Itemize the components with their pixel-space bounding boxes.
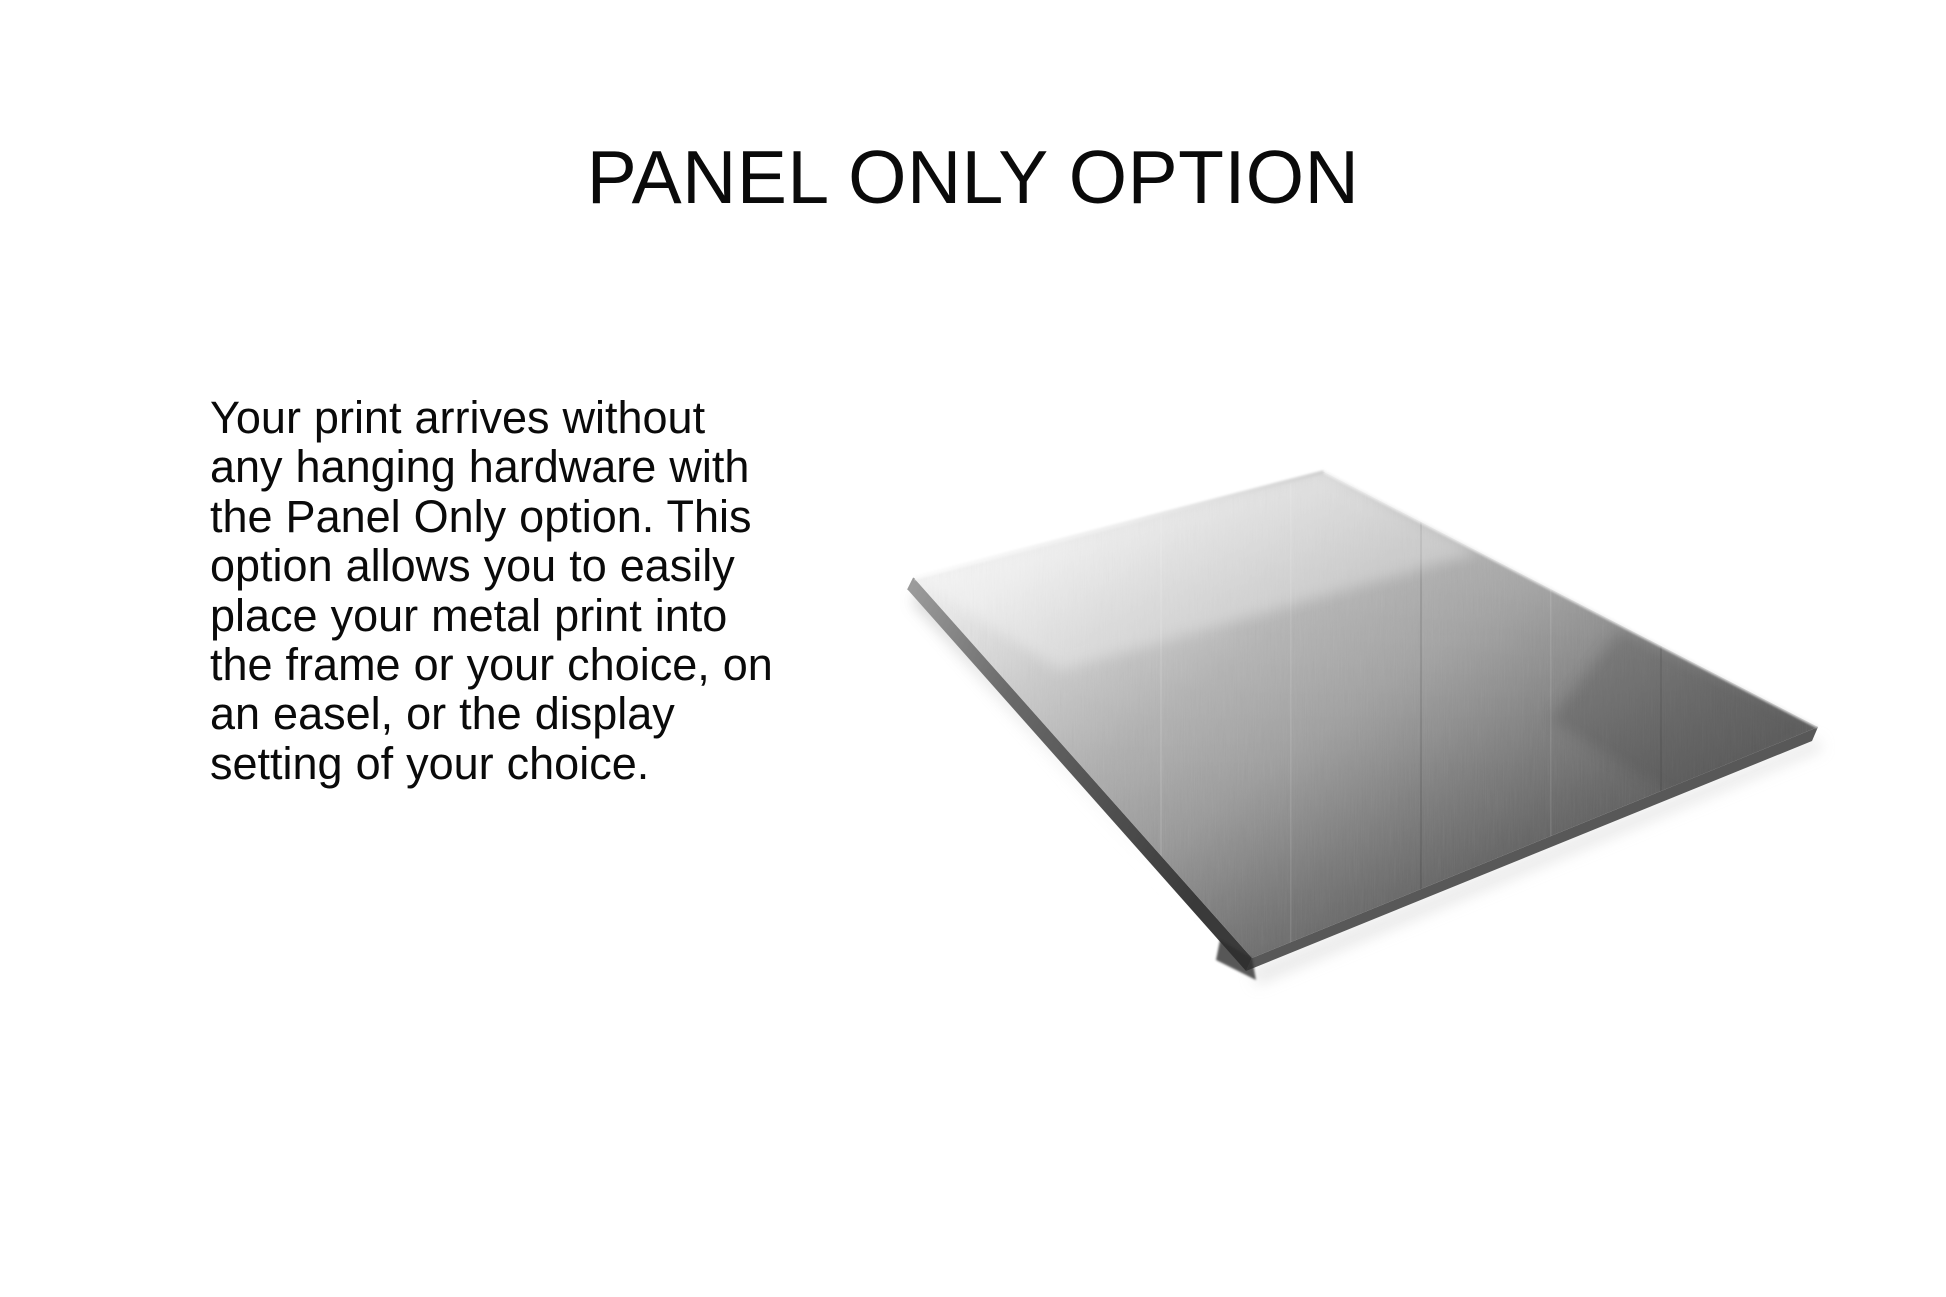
- metal-panel-svg: [860, 420, 1880, 1020]
- metal-panel-illustration: [860, 420, 1880, 1020]
- body-paragraph: Your print arrives without any hanging h…: [210, 393, 775, 788]
- slide-canvas: PANEL ONLY OPTION Your print arrives wit…: [0, 0, 1946, 1297]
- page-title: PANEL ONLY OPTION: [0, 138, 1946, 216]
